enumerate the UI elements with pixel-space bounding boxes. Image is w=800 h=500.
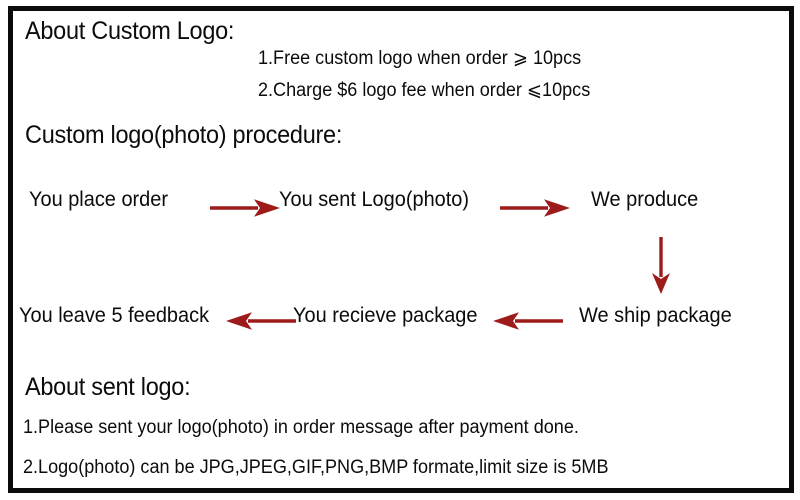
panel-frame: About Custom Logo: 1.Free custom logo wh… <box>8 6 794 493</box>
bullet-charge-logo-fee: 2.Charge $6 logo fee when order ⩽10pcs <box>258 79 590 102</box>
flow-step-you-leave-feedback: You leave 5 feedback <box>19 304 209 328</box>
arrow-down-icon <box>643 237 679 295</box>
flow-step-we-ship-package: We ship package <box>579 304 732 328</box>
panel-content: About Custom Logo: 1.Free custom logo wh… <box>13 11 789 488</box>
flow-step-you-sent-logo: You sent Logo(photo) <box>279 188 469 212</box>
heading-about-sent-logo: About sent logo: <box>25 373 190 402</box>
arrow-left-icon <box>226 310 296 332</box>
heading-about-custom-logo: About Custom Logo: <box>25 17 234 46</box>
flow-step-we-produce: We produce <box>591 188 698 212</box>
note-accepted-file-formats: 2.Logo(photo) can be JPG,JPEG,GIF,PNG,BM… <box>23 457 609 479</box>
flow-step-you-place-order: You place order <box>29 188 168 212</box>
arrow-right-icon <box>210 197 282 219</box>
note-send-logo-in-order-message: 1.Please sent your logo(photo) in order … <box>23 417 579 439</box>
info-panel-page: About Custom Logo: 1.Free custom logo wh… <box>0 0 800 500</box>
arrow-right-icon <box>500 197 572 219</box>
heading-custom-logo-procedure: Custom logo(photo) procedure: <box>25 121 342 150</box>
flow-step-you-recieve-package: You recieve package <box>293 304 477 328</box>
arrow-left-icon <box>493 310 563 332</box>
bullet-free-custom-logo: 1.Free custom logo when order ⩾ 10pcs <box>258 47 581 70</box>
